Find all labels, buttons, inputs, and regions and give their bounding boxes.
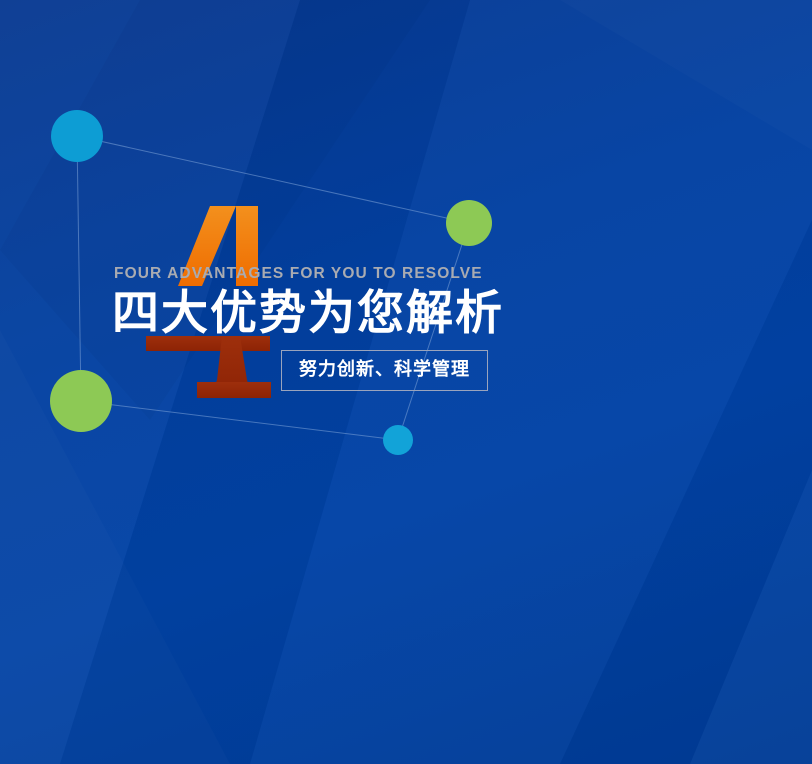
watermark-character <box>146 336 271 398</box>
tagline-box[interactable]: 努力创新、科学管理 <box>281 350 488 391</box>
banner-headline: 四大优势为您解析 <box>112 288 752 337</box>
tagline-container: 努力创新、科学管理 <box>281 350 488 391</box>
tagline-text: 努力创新、科学管理 <box>299 359 470 379</box>
banner-eyebrow: FOUR ADVANTAGES FOR YOU TO RESOLVE <box>114 266 752 282</box>
promo-banner: FOUR ADVANTAGES FOR YOU TO RESOLVE 四大优势为… <box>0 0 812 764</box>
banner-text-block: FOUR ADVANTAGES FOR YOU TO RESOLVE 四大优势为… <box>112 266 752 337</box>
